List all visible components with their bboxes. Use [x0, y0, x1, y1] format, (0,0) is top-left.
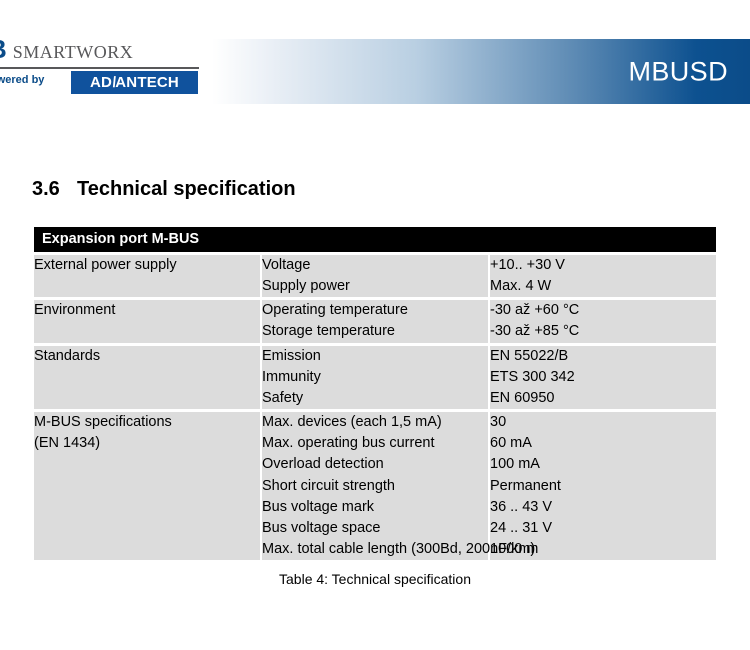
table-caption: Table 4: Technical specification [0, 571, 750, 587]
section-number: 3.6 [32, 178, 77, 201]
brand-logo-block: B SmartWorx owered by AD\ANTECH [0, 34, 212, 104]
brand-mark-icon: B [0, 34, 6, 65]
spec-value-cell-line: -30 až +85 °C [490, 321, 716, 342]
spec-category-cell-line: Standards [34, 346, 260, 367]
section-title: Technical specification [77, 178, 296, 200]
spec-parameter-cell-line: Voltage [262, 255, 488, 276]
spec-value-cell: 3060 mA100 mAPermanent36 .. 43 V24 .. 31… [490, 412, 716, 560]
spec-parameter-cell: Operating temperatureStorage temperature [262, 300, 488, 342]
spec-parameter-cell-line: Max. total cable length (300Bd, 200nF/km… [262, 539, 488, 560]
advantech-logo-text-b: ANTECH [115, 74, 179, 91]
section-heading: 3.6Technical specification [32, 178, 296, 201]
spec-parameter-cell-line: Max. operating bus current [262, 433, 488, 454]
spec-parameter-cell-line: Operating temperature [262, 300, 488, 321]
powered-by-label: owered by [0, 74, 44, 86]
spec-parameter-cell: Max. devices (each 1,5 mA)Max. operating… [262, 412, 488, 560]
spec-category-cell: Standards [34, 346, 260, 409]
table-title-row: Expansion port M-BUS [34, 227, 716, 252]
spec-value-cell-line: EN 55022/B [490, 346, 716, 367]
header-gradient-band: MBUSD [212, 39, 750, 104]
spec-value-cell-line: EN 60950 [490, 388, 716, 409]
technical-specification-table: Expansion port M-BUS External power supp… [32, 224, 718, 563]
table-row: Standards EmissionImmunitySafetyEN 55022… [34, 346, 716, 409]
table-title-cell: Expansion port M-BUS [34, 227, 716, 252]
spec-value-cell-line: +10.. +30 V [490, 255, 716, 276]
spec-category-cell: External power supply [34, 255, 260, 297]
table-row: M-BUS specifications(EN 1434) Max. devic… [34, 412, 716, 560]
document-title: MBUSD [628, 56, 728, 87]
spec-value-cell-line: 24 .. 31 V [490, 518, 716, 539]
table-body: Expansion port M-BUS External power supp… [34, 227, 716, 560]
spec-value-cell-line: 1000 m [490, 539, 716, 560]
spec-parameter-cell-line: Bus voltage space [262, 518, 488, 539]
smartworx-logo: B SmartWorx [0, 34, 133, 65]
spec-category-cell-line: External power supply [34, 255, 260, 276]
spec-parameter-cell: VoltageSupply power [262, 255, 488, 297]
spec-value-cell: EN 55022/BETS 300 342EN 60950 [490, 346, 716, 409]
spec-parameter-cell-line: Bus voltage mark [262, 497, 488, 518]
spec-parameter-cell-line: Storage temperature [262, 321, 488, 342]
spec-category-cell-line: M-BUS specifications [34, 412, 260, 433]
smartworx-wordmark: SmartWorx [13, 37, 133, 65]
spec-value-cell-line: Max. 4 W [490, 276, 716, 297]
page-header: MBUSD B SmartWorx owered by AD\ANTECH [0, 0, 750, 120]
spec-category-cell-line: (EN 1434) [34, 433, 260, 454]
table-row: External power supply VoltageSupply powe… [34, 255, 716, 297]
advantech-logo: AD\ANTECH [71, 71, 198, 94]
spec-parameter-cell-line: Safety [262, 388, 488, 409]
spec-value-cell-line: Permanent [490, 476, 716, 497]
spec-value-cell: -30 až +60 °C-30 až +85 °C [490, 300, 716, 342]
spec-value-cell-line: 30 [490, 412, 716, 433]
spec-category-cell: Environment [34, 300, 260, 342]
table-row: Environment Operating temperatureStorage… [34, 300, 716, 342]
brand-divider-rule [0, 67, 199, 69]
spec-value-cell-line: 36 .. 43 V [490, 497, 716, 518]
spec-category-cell: M-BUS specifications(EN 1434) [34, 412, 260, 560]
spec-parameter-cell-line: Supply power [262, 276, 488, 297]
spec-parameter-cell: EmissionImmunitySafety [262, 346, 488, 409]
spec-value-cell-line: 60 mA [490, 433, 716, 454]
spec-value-cell-line: 100 mA [490, 454, 716, 475]
spec-category-cell-line: Environment [34, 300, 260, 321]
spec-parameter-cell-line: Emission [262, 346, 488, 367]
spec-parameter-cell-line: Short circuit strength [262, 476, 488, 497]
spec-parameter-cell-line: Max. devices (each 1,5 mA) [262, 412, 488, 433]
spec-value-cell-line: ETS 300 342 [490, 367, 716, 388]
spec-value-cell: +10.. +30 VMax. 4 W [490, 255, 716, 297]
advantech-logo-text-a: AD [90, 74, 112, 91]
spec-parameter-cell-line: Immunity [262, 367, 488, 388]
spec-value-cell-line: -30 až +60 °C [490, 300, 716, 321]
spec-parameter-cell-line: Overload detection [262, 454, 488, 475]
